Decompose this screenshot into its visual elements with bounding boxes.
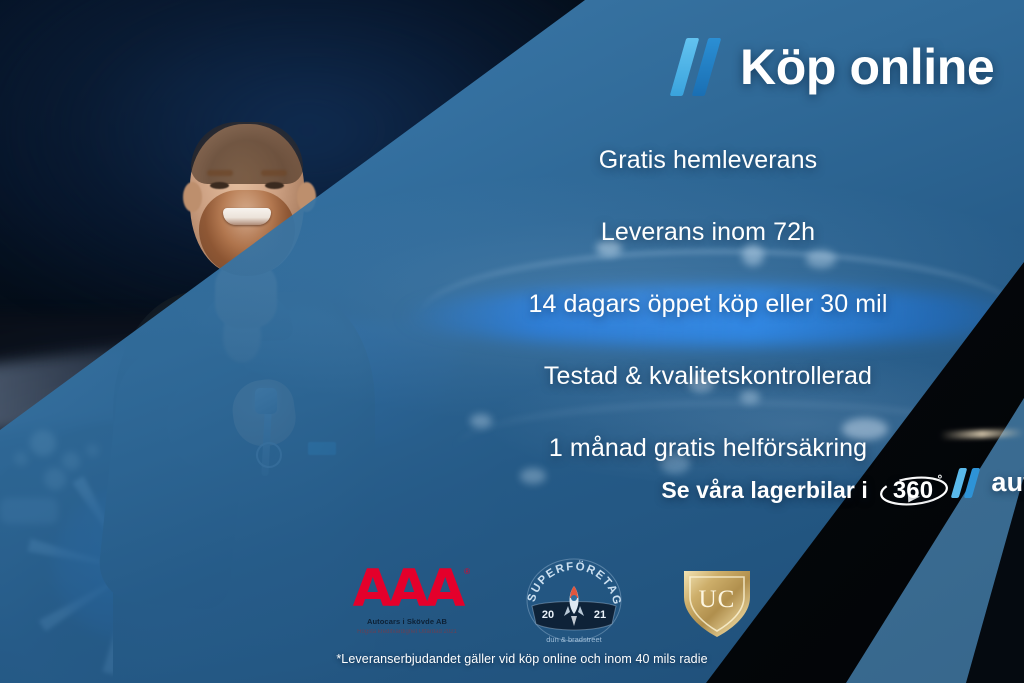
aaa-mark: AAA — [340, 563, 474, 615]
benefit-item: Testad & kvalitetskontrollerad — [0, 362, 1024, 391]
svg-text:360: 360 — [893, 477, 933, 504]
cta-block: Se våra lagerbilar i 360 ° autocars.nu — [0, 462, 1024, 510]
double-slash-icon — [676, 38, 722, 96]
svg-text:UC: UC — [699, 586, 736, 613]
trust-logo-row: AAA ® Autocars i Skövde AB Högsta kredit… — [340, 552, 760, 648]
cta-label: Se våra lagerbilar i — [661, 477, 868, 504]
footnote-disclaimer: *Leveranserbjudandet gäller vid köp onli… — [0, 652, 1024, 666]
cta-website[interactable]: autocars.nu — [954, 467, 1024, 498]
cta-line-360: Se våra lagerbilar i 360 ° — [661, 470, 950, 510]
panel-content: Köp online Gratis hemleverans Leverans i… — [0, 0, 1024, 683]
aaa-credit-logo: AAA ® Autocars i Skövde AB Högsta kredit… — [340, 563, 474, 636]
svg-text:21: 21 — [594, 609, 606, 621]
benefit-item: Leverans inom 72h — [0, 218, 1024, 247]
page-title: Köp online — [740, 38, 994, 96]
website-label: autocars.nu — [991, 467, 1024, 498]
svg-text:dun & bradstreet: dun & bradstreet — [546, 635, 602, 644]
aaa-caption: Högsta kreditvärdighet Utfärdad 2021 — [340, 628, 474, 636]
benefit-item: 1 månad gratis helförsäkring — [0, 434, 1024, 463]
superforetag-badge: SUPERFÖRETAG 20 21 dun & bradstreet — [522, 554, 626, 646]
registered-trademark-icon: ® — [464, 567, 470, 576]
double-slash-icon — [954, 468, 982, 498]
svg-text:°: ° — [937, 472, 942, 486]
promo-banner: Köp online Gratis hemleverans Leverans i… — [0, 0, 1024, 683]
benefit-list: Gratis hemleverans Leverans inom 72h 14 … — [0, 140, 1024, 463]
benefit-item: Gratis hemleverans — [0, 146, 1024, 175]
headline-row: Köp online — [676, 38, 994, 96]
benefit-item: 14 dagars öppet köp eller 30 mil — [0, 290, 1024, 319]
uc-badge: UC — [674, 557, 760, 643]
svg-text:20: 20 — [542, 609, 554, 621]
360-icon: 360 ° — [878, 470, 950, 510]
